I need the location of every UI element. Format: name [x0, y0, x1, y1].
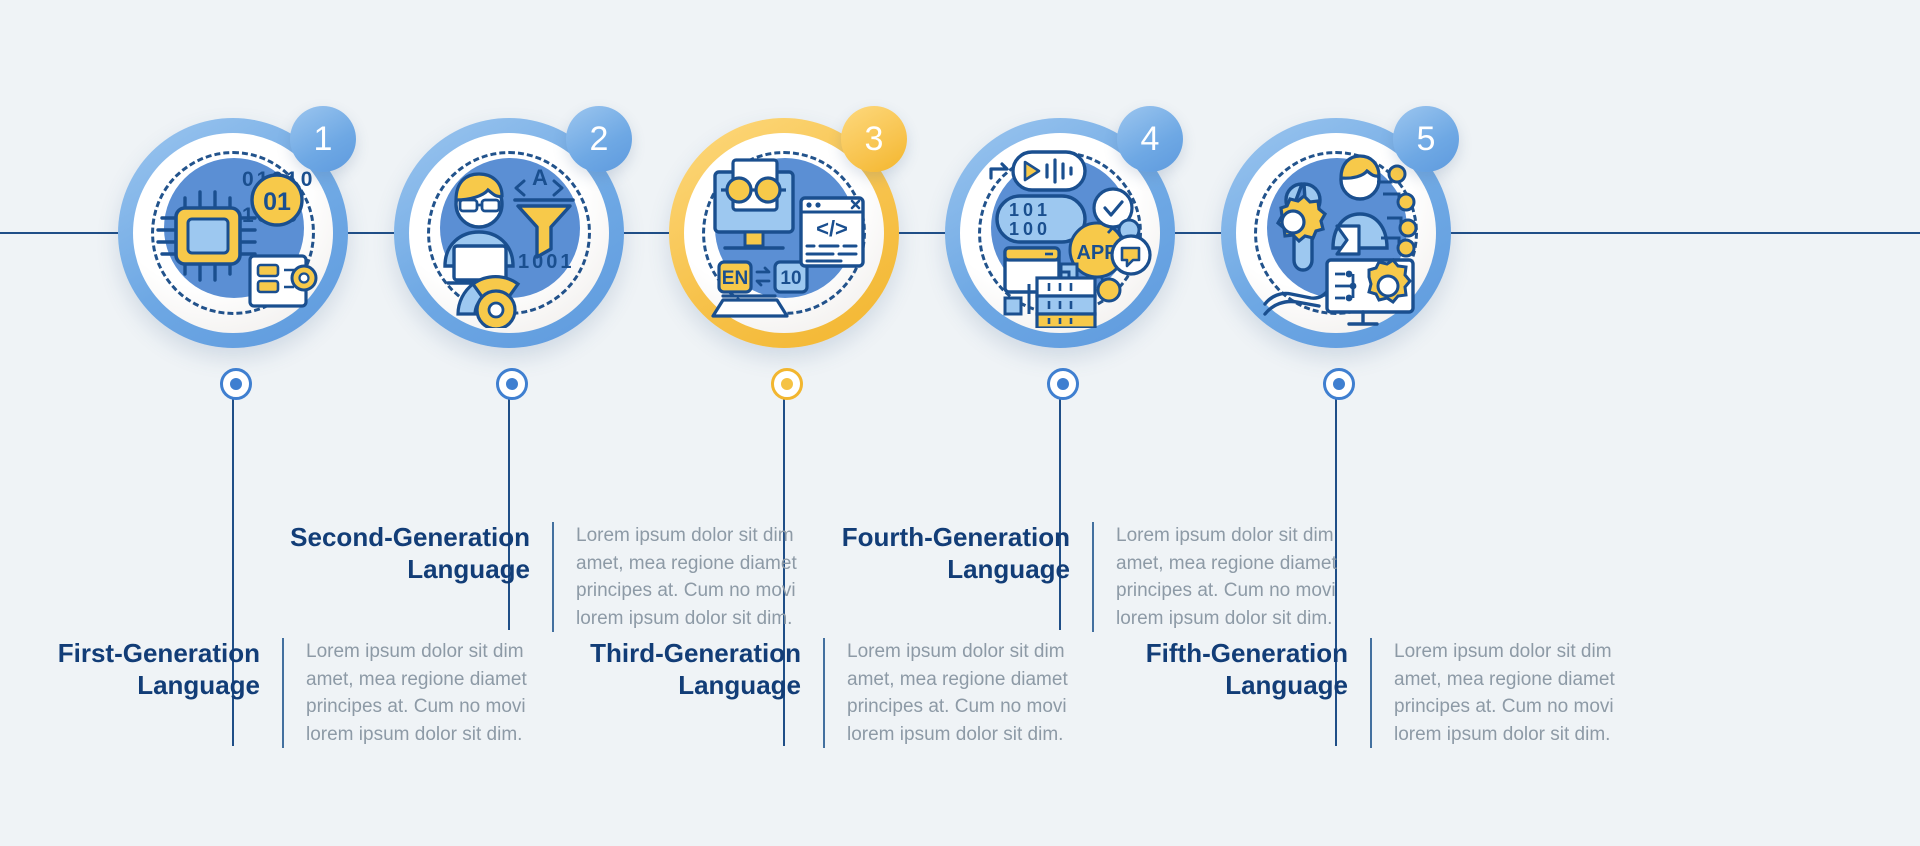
svg-text:10: 10 — [780, 268, 801, 289]
connector-dot-4 — [1047, 368, 1079, 400]
timeline-node-1[interactable]: 01010 1010 01 1 — [118, 118, 348, 348]
svg-text:</>: </> — [816, 216, 848, 241]
text-divider-1 — [282, 638, 284, 748]
step-text-block-4: Fourth-Generation Language Lorem ipsum d… — [830, 522, 1370, 632]
step-number-badge-3: 3 — [841, 106, 907, 172]
timeline-node-2[interactable]: A 1001 2 — [394, 118, 624, 348]
step-description-2: Lorem ipsum dolor sit dim amet, mea regi… — [554, 522, 806, 632]
svg-text:1001: 1001 — [518, 251, 575, 273]
connector-dot-5 — [1323, 368, 1355, 400]
timeline-node-3[interactable]: EN 10 </> 3 — [669, 118, 899, 348]
connector-dot-3 — [771, 368, 803, 400]
monitor-code-translate-icon: EN 10 </> — [689, 138, 879, 328]
step-title-2: Second-Generation Language — [280, 522, 552, 585]
step-number-2: 2 — [590, 120, 609, 159]
svg-text:EN: EN — [722, 268, 748, 289]
text-divider-5 — [1370, 638, 1372, 748]
step-number-badge-5: 5 — [1393, 106, 1459, 172]
connector-dot-1 — [220, 368, 252, 400]
text-divider-3 — [823, 638, 825, 748]
step-number-5: 5 — [1417, 120, 1436, 159]
wrench-gear-ai-icon — [1241, 138, 1431, 328]
step-title-4: Fourth-Generation Language — [830, 522, 1092, 585]
step-title-1: First-Generation Language — [20, 638, 282, 701]
svg-text:A: A — [532, 165, 548, 190]
text-divider-4 — [1092, 522, 1094, 632]
step-number-badge-2: 2 — [566, 106, 632, 172]
svg-text:100: 100 — [1009, 219, 1051, 239]
step-number-badge-1: 1 — [290, 106, 356, 172]
svg-text:01: 01 — [263, 188, 291, 216]
step-text-block-5: Fifth-Generation Language Lorem ipsum do… — [1118, 638, 1658, 748]
step-number-3: 3 — [865, 120, 884, 159]
step-text-block-1: First-Generation Language Lorem ipsum do… — [20, 638, 540, 748]
step-number-badge-4: 4 — [1117, 106, 1183, 172]
step-description-5: Lorem ipsum dolor sit dim amet, mea regi… — [1372, 638, 1624, 748]
step-number-1: 1 — [314, 120, 333, 159]
infographic-canvas: 01010 1010 01 1 — [0, 0, 1920, 846]
step-description-1: Lorem ipsum dolor sit dim amet, mea regi… — [284, 638, 536, 748]
developer-laptop-funnel-icon: A 1001 — [414, 138, 604, 328]
timeline-node-4[interactable]: 101 100 APP — [945, 118, 1175, 348]
step-description-3: Lorem ipsum dolor sit dim amet, mea regi… — [825, 638, 1077, 748]
app-media-server-icon: 101 100 APP — [965, 138, 1155, 328]
text-divider-2 — [552, 522, 554, 632]
timeline-node-5[interactable]: 5 — [1221, 118, 1451, 348]
step-title-3: Third-Generation Language — [565, 638, 823, 701]
svg-text:101: 101 — [1009, 200, 1051, 220]
step-description-4: Lorem ipsum dolor sit dim amet, mea regi… — [1094, 522, 1346, 632]
step-title-5: Fifth-Generation Language — [1118, 638, 1370, 701]
step-text-block-3: Third-Generation Language Lorem ipsum do… — [565, 638, 1095, 748]
step-text-block-2: Second-Generation Language Lorem ipsum d… — [280, 522, 820, 632]
connector-dot-2 — [496, 368, 528, 400]
cpu-chip-binary-icon: 01010 1010 01 — [138, 138, 328, 328]
step-number-4: 4 — [1141, 120, 1160, 159]
